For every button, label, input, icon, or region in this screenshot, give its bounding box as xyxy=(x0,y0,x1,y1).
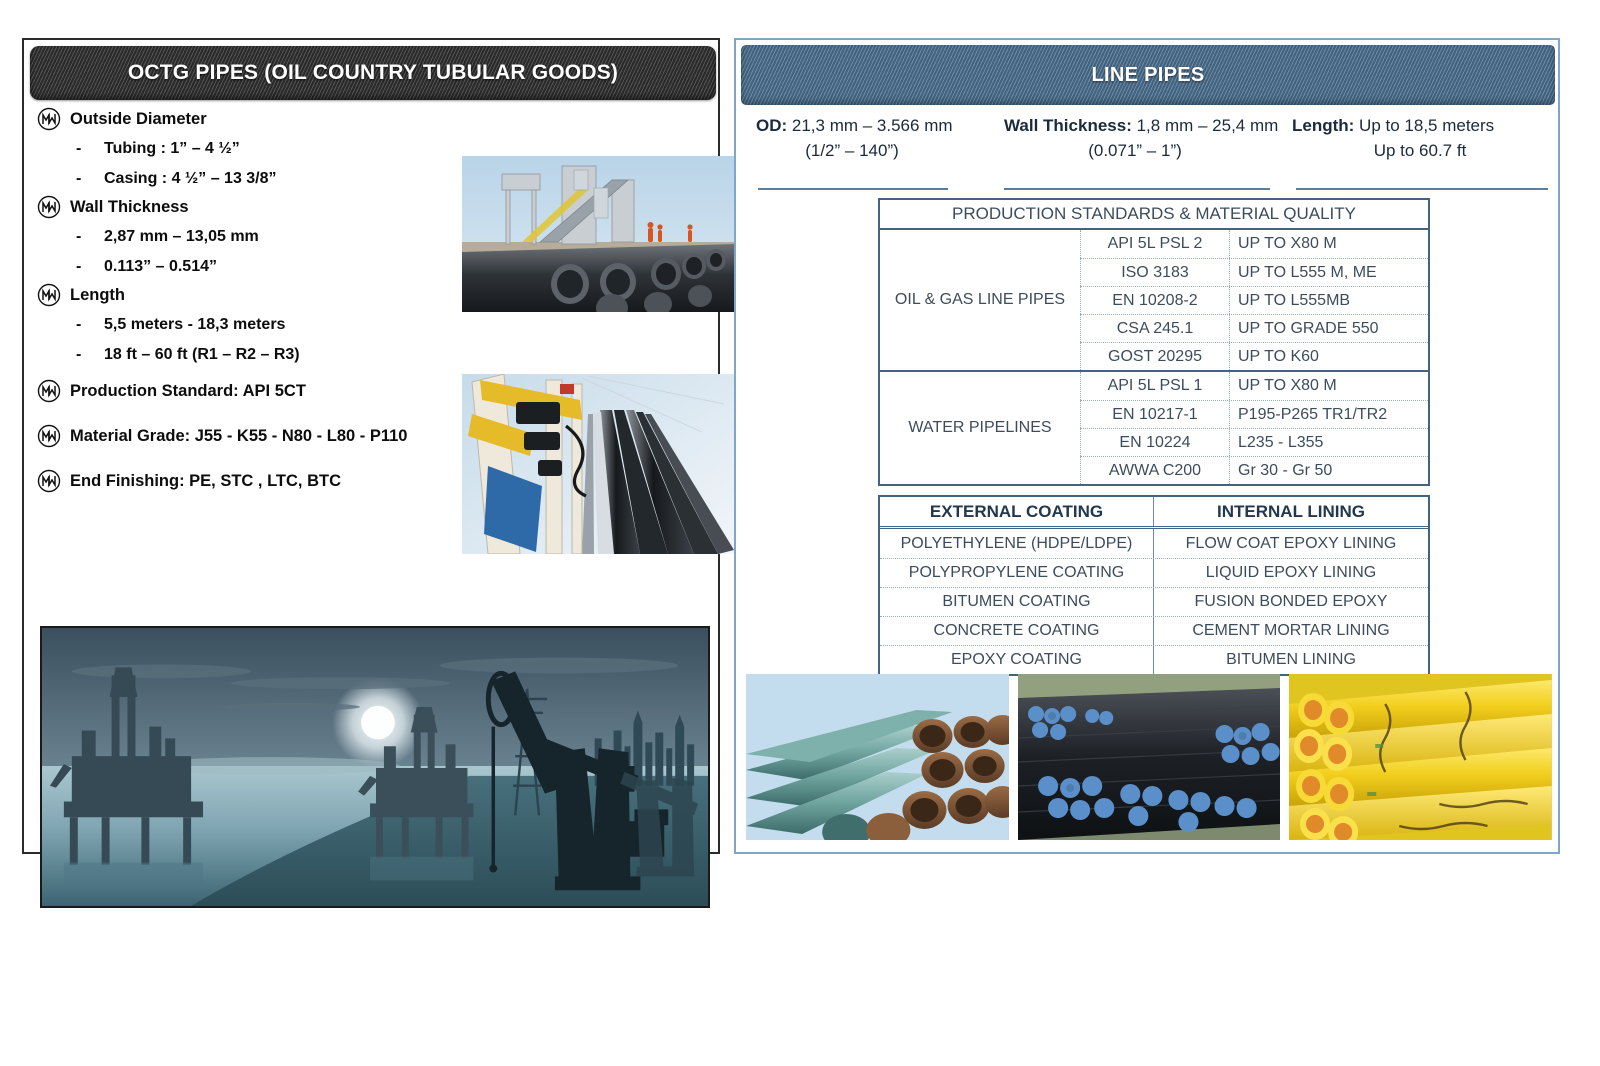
spec-len-rule xyxy=(1296,188,1548,190)
drilling-rig-derrick-photo xyxy=(462,374,734,554)
mm-monogram-icon xyxy=(36,106,62,132)
spec-wall-thickness: Wall Thickness: 1,8 mm – 25,4 mm (0.071”… xyxy=(996,114,1286,184)
spec-sub-text: Casing : 4 ½” – 13 3/8” xyxy=(104,170,277,187)
table-row: EN 10208-2 UP TO L555MB xyxy=(1080,286,1428,314)
pipe-yard-rig-photo xyxy=(462,156,734,312)
table-row: CSA 245.1 UP TO GRADE 550 xyxy=(1080,314,1428,342)
group-label: WATER PIPELINES xyxy=(880,372,1080,484)
spec-wt-rule xyxy=(1004,188,1270,190)
spec-label: Wall Thickness xyxy=(70,194,189,220)
standard-cell: GOST 20295 xyxy=(1080,343,1230,370)
spec-len-value: Up to 18,5 meters xyxy=(1354,116,1494,135)
grade-cell: Gr 30 - Gr 50 xyxy=(1230,457,1428,484)
line-pipes-photo-strip xyxy=(746,674,1552,840)
yellow-coated-pipes-photo xyxy=(1289,674,1552,840)
grade-cell: UP TO GRADE 550 xyxy=(1230,315,1428,342)
slide-page: OCTG PIPES (OIL COUNTRY TUBULAR GOODS) O… xyxy=(0,0,1600,1066)
spacer xyxy=(36,406,466,423)
mm-monogram-icon xyxy=(36,282,62,308)
line-pipes-spec-strip: OD: 21,3 mm – 3.566 mm (1/2” – 140”) Wal… xyxy=(744,114,1554,184)
dash-marker: - xyxy=(76,134,81,164)
spec-item-length: Length xyxy=(36,282,466,308)
table-row: API 5L PSL 2 UP TO X80 M xyxy=(1080,230,1428,258)
grade-cell: UP TO L555 M, ME xyxy=(1230,259,1428,286)
table-row: GOST 20295 UP TO K60 xyxy=(1080,342,1428,370)
production-standards-title: PRODUCTION STANDARDS & MATERIAL QUALITY xyxy=(880,200,1428,230)
grade-cell: UP TO K60 xyxy=(1230,343,1428,370)
external-coating-cell: POLYETHYLENE (HDPE/LDPE) xyxy=(880,529,1154,558)
production-standards-table: PRODUCTION STANDARDS & MATERIAL QUALITY … xyxy=(878,198,1430,486)
spec-wt-value: 1,8 mm – 25,4 mm xyxy=(1132,116,1278,135)
external-coating-cell: POLYPROPYLENE COATING xyxy=(880,559,1154,587)
spec-sub-text: 5,5 meters - 18,3 meters xyxy=(104,316,285,333)
standard-cell: CSA 245.1 xyxy=(1080,315,1230,342)
table-row: POLYPROPYLENE COATING LIQUID EPOXY LININ… xyxy=(880,558,1428,587)
spec-label: Length xyxy=(70,282,125,308)
table-row: EN 10217-1 P195-P265 TR1/TR2 xyxy=(1080,400,1428,428)
octg-header-title: OCTG PIPES (OIL COUNTRY TUBULAR GOODS) xyxy=(128,61,618,85)
spec-wt-line2: (0.071” – 1”) xyxy=(1004,138,1286,164)
spec-item-wall-thickness: Wall Thickness xyxy=(36,194,466,220)
spec-od-line1: OD: 21,3 mm – 3.566 mm xyxy=(756,114,996,138)
spec-item-production-standard: Production Standard: API 5CT xyxy=(36,378,466,404)
spec-item-outside-diameter: Outside Diameter xyxy=(36,106,466,132)
line-pipes-panel: LINE PIPES OD: 21,3 mm – 3.566 mm (1/2” … xyxy=(734,38,1560,854)
standard-cell: ISO 3183 xyxy=(1080,259,1230,286)
table-row: EPOXY COATING BITUMEN LINING xyxy=(880,645,1428,674)
table-row: ISO 3183 UP TO L555 M, ME xyxy=(1080,258,1428,286)
black-pipes-blue-caps-photo xyxy=(1018,674,1281,840)
coating-lining-header-row: EXTERNAL COATING INTERNAL LINING xyxy=(880,497,1428,529)
grade-cell: P195-P265 TR1/TR2 xyxy=(1230,401,1428,428)
internal-lining-cell: FLOW COAT EPOXY LINING xyxy=(1154,529,1428,558)
dash-marker: - xyxy=(76,164,81,194)
spec-label: End Finishing: PE, STC , LTC, BTC xyxy=(70,468,341,494)
group-rows: API 5L PSL 2 UP TO X80 M ISO 3183 UP TO … xyxy=(1080,230,1428,370)
spec-wt-line1: Wall Thickness: 1,8 mm – 25,4 mm xyxy=(1004,114,1286,138)
mm-monogram-icon xyxy=(36,423,62,449)
spec-len-line2: Up to 60.7 ft xyxy=(1292,138,1554,164)
production-group-oil-gas: OIL & GAS LINE PIPES API 5L PSL 2 UP TO … xyxy=(880,230,1428,370)
external-coating-cell: BITUMEN COATING xyxy=(880,588,1154,616)
internal-lining-cell: FUSION BONDED EPOXY xyxy=(1154,588,1428,616)
line-pipes-header-title: LINE PIPES xyxy=(1091,64,1204,87)
octg-body: Outside Diameter - Tubing : 1” – 4 ½” - … xyxy=(32,106,712,848)
spec-label: Outside Diameter xyxy=(70,106,207,132)
spec-od-key: OD: xyxy=(756,116,787,135)
standard-cell: API 5L PSL 2 xyxy=(1080,230,1230,258)
spec-sub-text: 2,87 mm – 13,05 mm xyxy=(104,228,259,245)
grade-cell: UP TO X80 M xyxy=(1230,372,1428,400)
spec-length: Length: Up to 18,5 meters Up to 60.7 ft xyxy=(1286,114,1554,184)
spec-od-line2: (1/2” – 140”) xyxy=(756,138,996,164)
standard-cell: EN 10217-1 xyxy=(1080,401,1230,428)
octg-header-bar: OCTG PIPES (OIL COUNTRY TUBULAR GOODS) xyxy=(30,46,716,100)
standard-cell: EN 10224 xyxy=(1080,429,1230,456)
spec-sub-item: - 0.113” – 0.514” xyxy=(36,252,466,282)
table-row: POLYETHYLENE (HDPE/LDPE) FLOW COAT EPOXY… xyxy=(880,529,1428,558)
standard-cell: API 5L PSL 1 xyxy=(1080,372,1230,400)
spec-sub-item: - 18 ft – 60 ft (R1 – R2 – R3) xyxy=(36,340,466,370)
external-coating-cell: EPOXY COATING xyxy=(880,646,1154,674)
spec-sub-item: - 5,5 meters - 18,3 meters xyxy=(36,310,466,340)
external-coating-cell: CONCRETE COATING xyxy=(880,617,1154,645)
table-row: BITUMEN COATING FUSION BONDED EPOXY xyxy=(880,587,1428,616)
line-pipes-header-bar: LINE PIPES xyxy=(741,45,1555,105)
table-row: API 5L PSL 1 UP TO X80 M xyxy=(1080,372,1428,400)
standard-cell: EN 10208-2 xyxy=(1080,287,1230,314)
dash-marker: - xyxy=(76,340,81,370)
spec-len-key: Length: xyxy=(1292,116,1354,135)
spec-item-material-grade: Material Grade: J55 - K55 - N80 - L80 - … xyxy=(36,423,466,449)
spec-label: Material Grade: J55 - K55 - N80 - L80 - … xyxy=(70,423,408,449)
coating-lining-table: EXTERNAL COATING INTERNAL LINING POLYETH… xyxy=(878,495,1430,676)
spec-len-line1: Length: Up to 18,5 meters xyxy=(1292,114,1554,138)
octg-panel: OCTG PIPES (OIL COUNTRY TUBULAR GOODS) O… xyxy=(22,38,720,854)
grade-cell: L235 - L355 xyxy=(1230,429,1428,456)
mm-monogram-icon xyxy=(36,468,62,494)
column-header-external-coating: EXTERNAL COATING xyxy=(880,497,1154,526)
spec-wt-key: Wall Thickness: xyxy=(1004,116,1132,135)
offshore-oilfield-illustration xyxy=(40,626,710,908)
dash-marker: - xyxy=(76,222,81,252)
production-group-water: WATER PIPELINES API 5L PSL 1 UP TO X80 M… xyxy=(880,370,1428,484)
spacer xyxy=(36,451,466,468)
mm-monogram-icon xyxy=(36,378,62,404)
spec-sub-item: - Tubing : 1” – 4 ½” xyxy=(36,134,466,164)
internal-lining-cell: LIQUID EPOXY LINING xyxy=(1154,559,1428,587)
spec-od: OD: 21,3 mm – 3.566 mm (1/2” – 140”) xyxy=(744,114,996,184)
dash-marker: - xyxy=(76,310,81,340)
dash-marker: - xyxy=(76,252,81,282)
grade-cell: UP TO X80 M xyxy=(1230,230,1428,258)
table-row: EN 10224 L235 - L355 xyxy=(1080,428,1428,456)
table-row: AWWA C200 Gr 30 - Gr 50 xyxy=(1080,456,1428,484)
spec-sub-item: - Casing : 4 ½” – 13 3/8” xyxy=(36,164,466,194)
spec-sub-item: - 2,87 mm – 13,05 mm xyxy=(36,222,466,252)
spec-item-end-finishing: End Finishing: PE, STC , LTC, BTC xyxy=(36,468,466,494)
internal-lining-cell: CEMENT MORTAR LINING xyxy=(1154,617,1428,645)
spec-sub-text: Tubing : 1” – 4 ½” xyxy=(104,140,240,157)
spec-label: Production Standard: API 5CT xyxy=(70,378,306,404)
octg-spec-list: Outside Diameter - Tubing : 1” – 4 ½” - … xyxy=(36,106,466,496)
spec-od-rule xyxy=(758,188,948,190)
group-rows: API 5L PSL 1 UP TO X80 M EN 10217-1 P195… xyxy=(1080,372,1428,484)
green-coated-pipes-photo xyxy=(746,674,1009,840)
spec-sub-text: 0.113” – 0.514” xyxy=(104,258,217,275)
spec-od-value: 21,3 mm – 3.566 mm xyxy=(787,116,952,135)
grade-cell: UP TO L555MB xyxy=(1230,287,1428,314)
column-header-internal-lining: INTERNAL LINING xyxy=(1154,497,1428,526)
group-label: OIL & GAS LINE PIPES xyxy=(880,230,1080,370)
standard-cell: AWWA C200 xyxy=(1080,457,1230,484)
table-row: CONCRETE COATING CEMENT MORTAR LINING xyxy=(880,616,1428,645)
internal-lining-cell: BITUMEN LINING xyxy=(1154,646,1428,674)
mm-monogram-icon xyxy=(36,194,62,220)
spec-sub-text: 18 ft – 60 ft (R1 – R2 – R3) xyxy=(104,346,300,363)
